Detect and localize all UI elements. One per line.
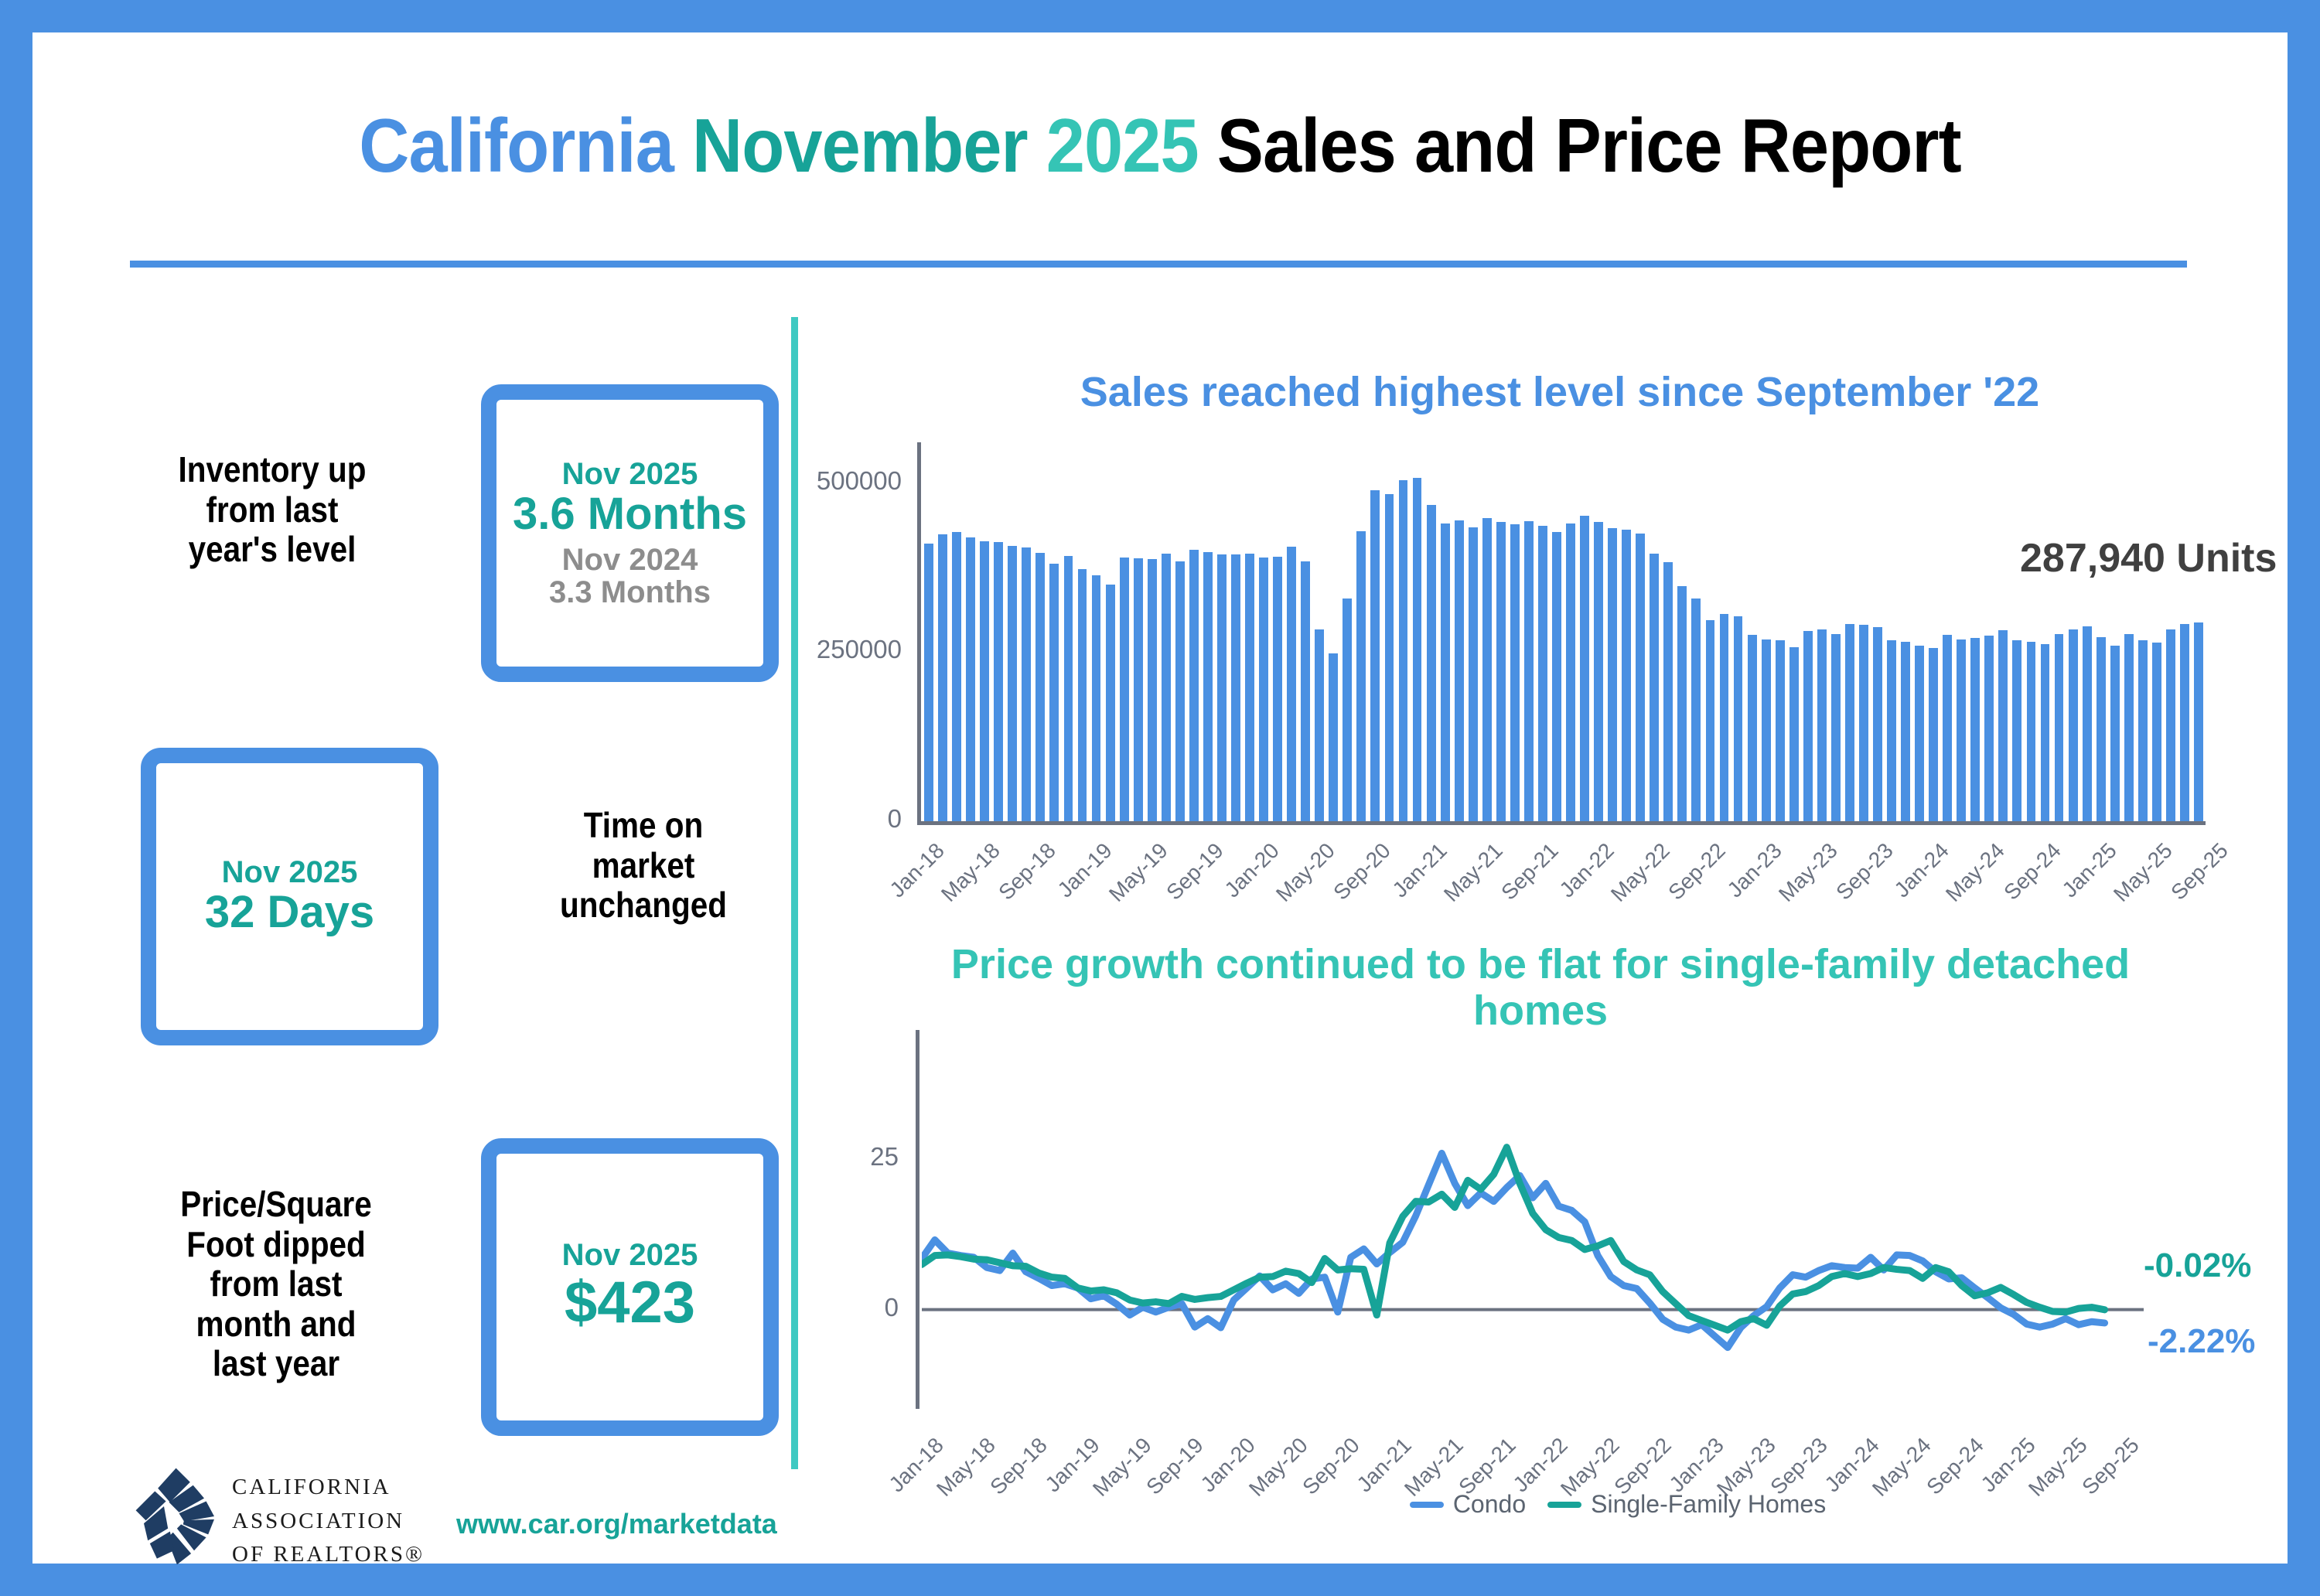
bar [1663, 562, 1673, 821]
logo-line-2: ASSOCIATION [232, 1505, 425, 1539]
inventory-current-label: Nov 2025 [562, 458, 698, 490]
legend-item-sfh[interactable]: Single-Family Homes [1547, 1490, 1826, 1519]
bar [1552, 532, 1561, 822]
bar-y-axis [917, 442, 921, 821]
price-per-sqft-caption: Price/SquareFoot dippedfrom lastmonth an… [130, 1185, 422, 1384]
inventory-prior-label: Nov 2024 [562, 544, 698, 576]
bar [1720, 614, 1729, 821]
bar [1998, 630, 2008, 821]
bar [2012, 640, 2021, 822]
bar [1092, 575, 1101, 822]
logo-line-3: OF REALTORS® [232, 1538, 425, 1572]
bar [2180, 624, 2189, 821]
dom-current-label: Nov 2025 [222, 856, 358, 888]
bar [1175, 561, 1185, 821]
bar [1120, 558, 1129, 821]
inventory-prior-value: 3.3 Months [549, 576, 711, 609]
bar-y-tick: 500000 [701, 466, 902, 496]
bar [1915, 646, 1924, 821]
bar [2166, 629, 2175, 821]
bar [1845, 624, 1854, 821]
bar [1650, 554, 1659, 822]
bar [2041, 644, 2050, 821]
bar [1049, 564, 1059, 821]
page-title: California November 2025 Sales and Price… [123, 102, 2198, 189]
price-growth-line-chart: 025Jan-18May-18Sep-18Jan-19May-19Sep-19J… [922, 1057, 2144, 1382]
bar [1622, 530, 1631, 821]
bar [2069, 629, 2078, 822]
bar [980, 541, 989, 821]
line-chart-svg [922, 1057, 2144, 1382]
bar [1677, 586, 1687, 821]
bar [1691, 598, 1701, 821]
bar [1469, 527, 1478, 821]
bar [1329, 653, 1338, 821]
dom-current-value: 32 Days [205, 888, 374, 937]
stat-box-price-per-sqft: Nov 2025 $423 [481, 1138, 779, 1436]
bar [1189, 550, 1199, 821]
title-rest: Sales and Price Report [1217, 103, 1961, 188]
bar [1594, 522, 1603, 821]
line-y-tick: 25 [806, 1142, 899, 1171]
header-divider [130, 261, 2187, 268]
bar-chart-title: Sales reached highest level since Septem… [829, 369, 2291, 415]
bar [1482, 518, 1492, 821]
legend-item-condo[interactable]: Condo [1410, 1490, 1526, 1519]
bar [952, 532, 961, 822]
market-data-url[interactable]: www.car.org/marketdata [456, 1508, 777, 1540]
bar [1301, 561, 1310, 821]
bar [1859, 625, 1868, 821]
bar [1776, 640, 1785, 822]
bar [2110, 646, 2120, 821]
bar [938, 534, 947, 821]
bar [1008, 546, 1017, 821]
bar [1580, 516, 1589, 822]
psf-current-value: $423 [565, 1271, 695, 1335]
psf-current-label: Nov 2025 [562, 1239, 698, 1271]
bar [1134, 558, 1143, 821]
bar [1259, 558, 1268, 821]
line-series [922, 1153, 2105, 1347]
bar [1566, 523, 1575, 821]
bar [1748, 635, 1757, 822]
bar-x-axis [917, 821, 2206, 825]
bar [1343, 598, 1352, 821]
bar [1273, 557, 1282, 821]
car-logo: CALIFORNIA ASSOCIATION OF REALTORS® [124, 1463, 433, 1571]
line-chart-legend: Condo Single-Family Homes [1347, 1490, 1888, 1519]
bar [1510, 524, 1520, 821]
legend-label-sfh: Single-Family Homes [1591, 1490, 1826, 1519]
bar-y-tick: 250000 [701, 635, 902, 664]
bar [1231, 554, 1240, 821]
bar [1315, 629, 1324, 821]
bar [1929, 648, 1938, 821]
bar [1831, 634, 1841, 821]
bar [1496, 522, 1506, 821]
bar [1970, 638, 1980, 821]
bar [2152, 643, 2161, 821]
bar [1441, 523, 1450, 821]
condo-end-value: -2.22% [2148, 1322, 2255, 1361]
bar [1706, 620, 1715, 821]
bar [1287, 547, 1296, 821]
bar [1734, 616, 1743, 821]
bar [2055, 634, 2064, 821]
car-fan-logo-icon [124, 1466, 224, 1567]
bar [1106, 585, 1115, 821]
bar [1789, 647, 1799, 821]
bar [1762, 639, 1771, 821]
bar [1943, 635, 1952, 821]
bar [2124, 634, 2134, 821]
bar [1887, 640, 1896, 822]
bar [1078, 569, 1087, 821]
bar [1524, 521, 1534, 822]
bar [1064, 556, 1073, 821]
bar [1399, 480, 1408, 821]
logo-line-1: CALIFORNIA [232, 1471, 425, 1505]
bar [1022, 547, 1031, 821]
legend-label-condo: Condo [1453, 1490, 1526, 1519]
sales-bar-chart: 0250000500000Jan-18May-18Sep-18Jan-19May… [922, 442, 2206, 821]
sfh-end-value: -0.02% [2144, 1246, 2251, 1285]
line-series [922, 1148, 2105, 1330]
bar [1162, 554, 1171, 822]
bar [1984, 636, 1994, 821]
bar [1035, 553, 1045, 821]
bar [2083, 626, 2092, 821]
poster-frame: California November 2025 Sales and Price… [32, 32, 2288, 1564]
bar [1957, 639, 1966, 821]
line-y-axis [916, 1030, 919, 1409]
legend-swatch-sfh [1547, 1502, 1581, 1508]
bar [1608, 528, 1617, 821]
line-chart-title: Price growth continued to be flat for si… [883, 941, 2198, 1035]
bar [1148, 559, 1157, 822]
title-year: 2025 [1046, 103, 1199, 188]
inventory-caption: Inventory upfrom lastyear's level [129, 450, 415, 570]
stat-box-days-on-market: Nov 2025 32 Days [141, 748, 438, 1045]
bar [1370, 490, 1380, 821]
bar [1413, 478, 1422, 821]
bar [1901, 642, 1910, 821]
inventory-current-value: 3.6 Months [513, 490, 747, 539]
bar [2194, 622, 2203, 821]
line-y-tick: 0 [806, 1293, 899, 1322]
bar [1385, 494, 1394, 821]
car-logo-text: CALIFORNIA ASSOCIATION OF REALTORS® [232, 1471, 425, 1572]
bar [966, 537, 975, 822]
legend-swatch-condo [1410, 1502, 1444, 1508]
bar [2027, 642, 2036, 821]
bar [1245, 554, 1254, 821]
bar [1427, 505, 1436, 821]
bar [1217, 554, 1227, 821]
bar-y-tick: 0 [701, 804, 902, 834]
bar [994, 542, 1003, 821]
bar [2138, 640, 2148, 821]
bar [1455, 520, 1464, 821]
title-state: California [359, 103, 674, 188]
bar [924, 544, 933, 821]
bar [1636, 534, 1645, 821]
bar [2097, 637, 2106, 821]
units-annotation: 287,940 Units [2020, 535, 2277, 581]
bar [1803, 631, 1813, 821]
title-month: November [692, 103, 1028, 188]
bar [1538, 526, 1547, 821]
bar [1203, 552, 1213, 821]
bar [1817, 629, 1827, 822]
bar [1873, 627, 1882, 821]
bar [1356, 531, 1366, 821]
